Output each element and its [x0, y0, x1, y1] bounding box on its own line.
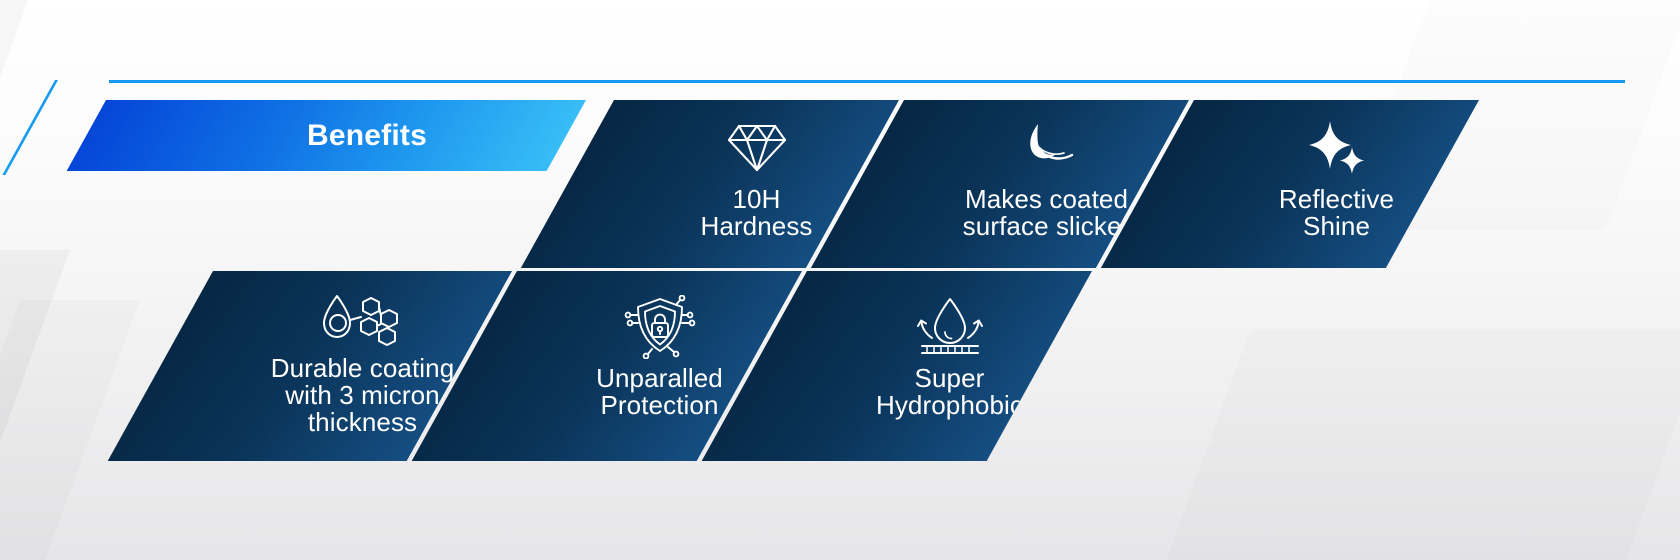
- water-repellent-icon: [910, 295, 990, 359]
- sparkle-icon: [1306, 116, 1368, 180]
- benefit-card-label: Reflective Shine: [1279, 186, 1394, 240]
- droplet-molecule-icon: [317, 289, 409, 353]
- background-stripe: [0, 250, 70, 560]
- accent-outline-top: [109, 80, 1625, 83]
- benefit-card-label: Super Hydrophobic: [876, 365, 1023, 419]
- benefit-card-label: 10H Hardness: [700, 186, 812, 240]
- accent-outline-left-leg: [2, 80, 58, 175]
- benefit-card-label: Durable coating with 3 micron thickness: [271, 355, 455, 436]
- shield-lock-icon: [624, 295, 696, 359]
- benefits-banner: Benefits: [67, 100, 586, 171]
- background-stripe: [1148, 330, 1680, 560]
- background-stripe: [0, 0, 16, 400]
- feather-icon: [1014, 116, 1080, 180]
- background-stripe: [0, 0, 50, 360]
- benefit-card-label: Unparalled Protection: [596, 365, 723, 419]
- benefits-infographic: Benefits 10H Hardness: [0, 0, 1680, 560]
- background-stripe: [0, 300, 140, 560]
- benefit-card-label: Makes coated surface slicker: [963, 186, 1131, 240]
- diamond-icon: [726, 116, 788, 180]
- benefits-banner-label: Benefits: [307, 119, 427, 153]
